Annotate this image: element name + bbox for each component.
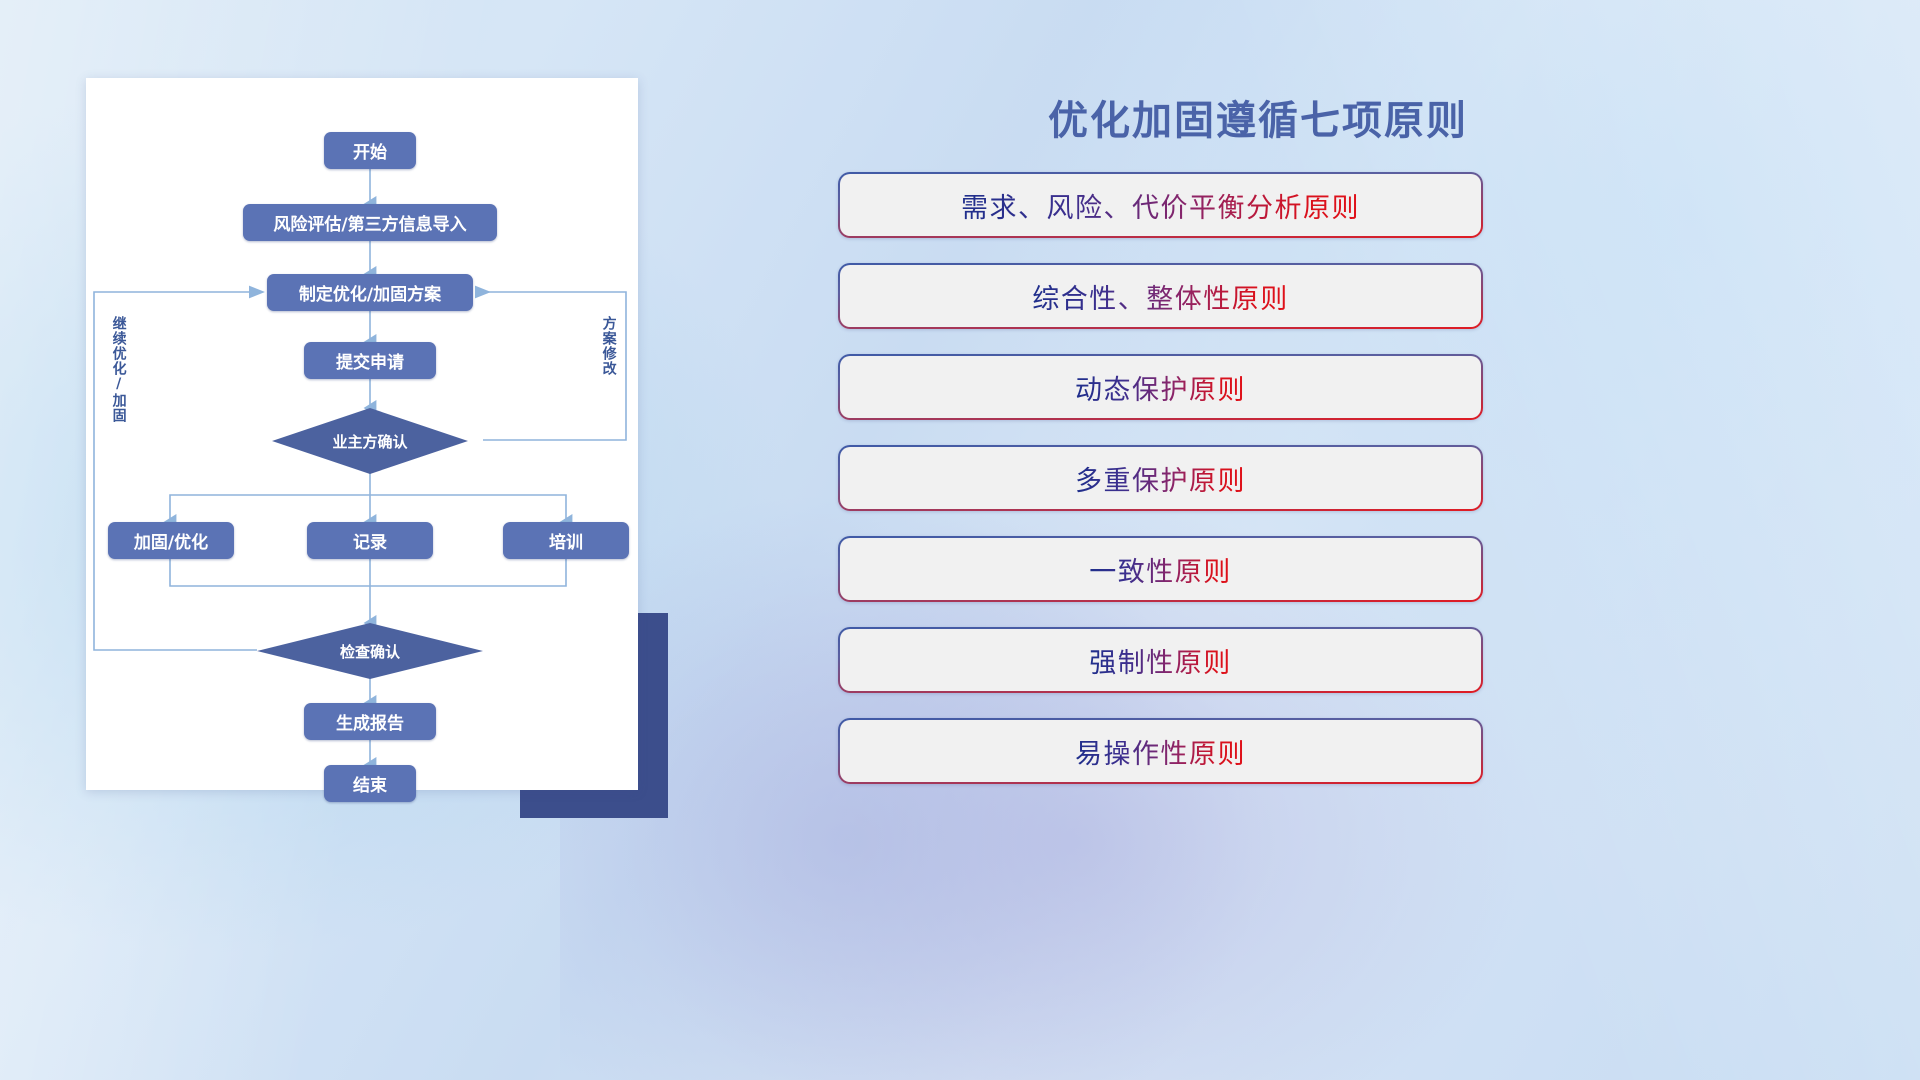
flow-node-label: 培训 [549,528,583,553]
principle-label: 需求、风险、代价平衡分析原则 [961,186,1360,225]
principle-card-inner: 综合性、整体性原则 [840,265,1481,327]
page-title: 优化加固遵循七项原则 [938,88,1578,146]
flow-node-start[interactable]: 开始 [324,132,416,169]
flow-node-owner-confirm[interactable]: 业主方确认 [272,408,468,474]
principle-card[interactable]: 一致性原则 [838,536,1483,602]
principle-label: 强制性原则 [1089,641,1232,680]
flow-edge-label-plan-revision: 方案修改 [600,316,616,408]
flow-edge-label-continue-optimize: 继续优化/加固 [110,316,126,446]
flow-node-check-confirm[interactable]: 检查确认 [257,623,483,679]
flow-node-label: 加固/优化 [134,528,208,553]
principle-card[interactable]: 综合性、整体性原则 [838,263,1483,329]
principle-card[interactable]: 易操作性原则 [838,718,1483,784]
flow-node-label: 业主方确认 [332,431,407,452]
principles-panel: 优化加固遵循七项原则 需求、风险、代价平衡分析原则 综合性、整体性原则 动态保护… [838,70,1838,1030]
flow-node-generate-report[interactable]: 生成报告 [304,703,436,740]
flow-node-label: 开始 [353,138,387,163]
flow-node-label: 检查确认 [340,641,400,662]
principle-label: 多重保护原则 [1075,459,1246,498]
flow-node-reinforce-optimize[interactable]: 加固/优化 [108,522,234,559]
principle-card-inner: 易操作性原则 [840,720,1481,782]
principle-card[interactable]: 强制性原则 [838,627,1483,693]
principle-label: 综合性、整体性原则 [1032,277,1289,316]
principle-card-inner: 一致性原则 [840,538,1481,600]
principles-list: 需求、风险、代价平衡分析原则 综合性、整体性原则 动态保护原则 多重保护原则 一… [838,172,1483,809]
flow-node-submit-application[interactable]: 提交申请 [304,342,436,379]
flowchart-panel: 开始 风险评估/第三方信息导入 制定优化/加固方案 提交申请 业主方确认 加固/… [86,78,638,790]
principle-card[interactable]: 多重保护原则 [838,445,1483,511]
flow-node-record[interactable]: 记录 [307,522,433,559]
principle-label: 易操作性原则 [1075,732,1246,771]
flow-node-label: 制定优化/加固方案 [299,280,441,305]
flow-node-label: 生成报告 [336,709,404,734]
principle-card-inner: 需求、风险、代价平衡分析原则 [840,174,1481,236]
flow-node-risk-assessment[interactable]: 风险评估/第三方信息导入 [243,204,497,241]
flow-node-end[interactable]: 结束 [324,765,416,802]
principle-card[interactable]: 动态保护原则 [838,354,1483,420]
flow-node-training[interactable]: 培训 [503,522,629,559]
flow-node-label: 提交申请 [336,348,404,373]
principle-card-inner: 动态保护原则 [840,356,1481,418]
principle-card[interactable]: 需求、风险、代价平衡分析原则 [838,172,1483,238]
flow-node-plan[interactable]: 制定优化/加固方案 [267,274,473,311]
flow-node-label: 结束 [353,771,387,796]
flow-node-label: 风险评估/第三方信息导入 [273,210,466,235]
principle-label: 一致性原则 [1089,550,1232,589]
principle-card-inner: 多重保护原则 [840,447,1481,509]
principle-card-inner: 强制性原则 [840,629,1481,691]
flow-node-label: 记录 [353,528,387,553]
principle-label: 动态保护原则 [1075,368,1246,407]
